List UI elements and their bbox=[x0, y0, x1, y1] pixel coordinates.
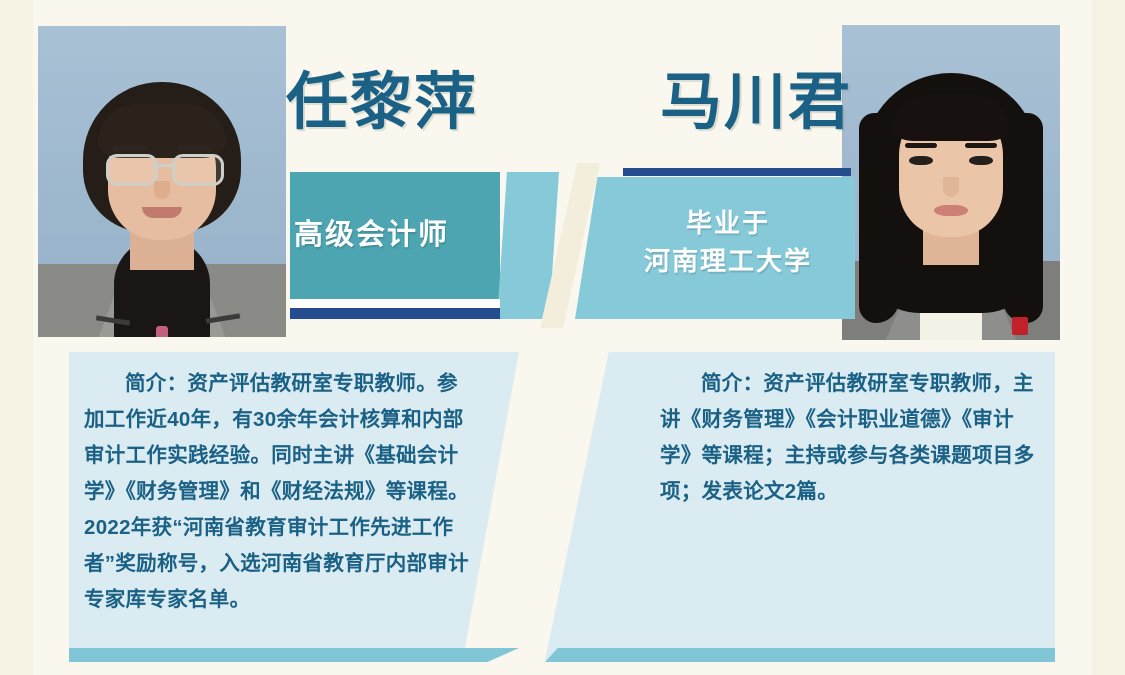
photo-hair-strand-right bbox=[1003, 113, 1043, 323]
photo-nose bbox=[943, 177, 959, 197]
profile-title-ma-chuanjun: 毕业于 河南理工大学 bbox=[600, 204, 856, 280]
photo-eye-left bbox=[909, 156, 933, 165]
profile-title-ren-liping: 高级会计师 bbox=[294, 216, 494, 254]
photo-eyebrow-left bbox=[905, 143, 937, 148]
photo-eyeglass-left bbox=[106, 154, 158, 186]
photo-eyebrow-right bbox=[965, 143, 997, 148]
photo-eyebrow-left bbox=[112, 146, 146, 151]
slide-canvas: 任黎萍 高级会计师 马川君 毕业于 河南理工大学 简介：资产评估教研室专职教师。… bbox=[0, 0, 1125, 675]
profile-name-ma-chuanjun: 马川君 bbox=[660, 66, 960, 140]
bio-bottom-bar-right bbox=[545, 648, 1055, 662]
profile-title-line2: 河南理工大学 bbox=[600, 242, 856, 280]
photo-nose bbox=[154, 181, 170, 199]
portrait-photo-ren-liping bbox=[38, 26, 286, 337]
decor-navy-rule-right bbox=[623, 168, 851, 176]
photo-accessory bbox=[156, 326, 168, 337]
photo-eyebrow-right bbox=[178, 146, 212, 151]
bio-text-ma-chuanjun: 简介：资产评估教研室专职教师，主讲《财务管理》《会计职业道德》《审计学》等课程；… bbox=[660, 366, 1037, 510]
photo-eyeglass-right bbox=[172, 154, 224, 186]
photo-mouth bbox=[142, 207, 182, 218]
decor-white-rule-left bbox=[290, 299, 500, 308]
bio-text-ren-liping: 简介：资产评估教研室专职教师。参加工作近40年，有30余年会计核算和内部审计工作… bbox=[84, 366, 476, 618]
photo-mouth bbox=[934, 205, 968, 216]
photo-lapel-pin bbox=[1012, 317, 1028, 335]
decor-navy-rule-left bbox=[290, 308, 500, 319]
photo-eyeglass-bridge bbox=[152, 164, 172, 167]
photo-eye-right bbox=[969, 156, 993, 165]
bio-bottom-bar-left bbox=[69, 648, 519, 662]
profile-name-ren-liping: 任黎萍 bbox=[286, 66, 586, 140]
profile-title-line1: 毕业于 bbox=[600, 204, 856, 242]
photo-hair-strand-left bbox=[859, 113, 899, 323]
